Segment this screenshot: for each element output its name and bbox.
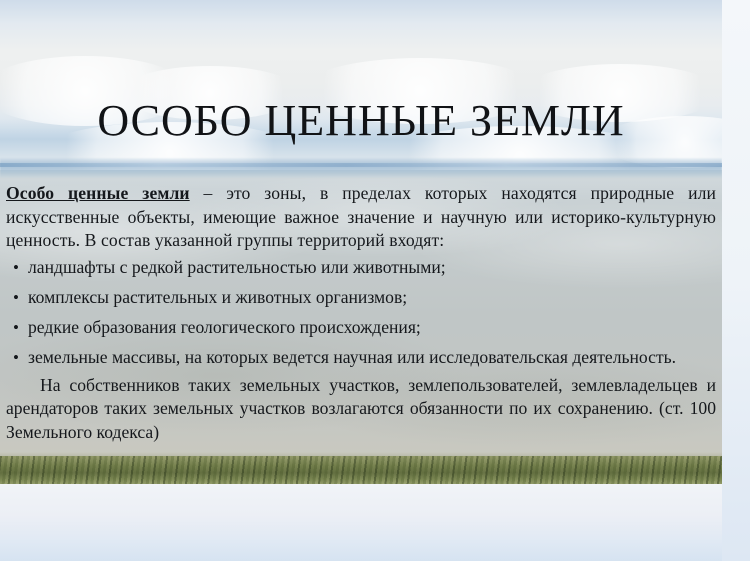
list-item-label: комплексы растительных и животных органи…	[28, 287, 407, 307]
list-item-label: редкие образования геологического происх…	[28, 317, 421, 337]
horizon-streak-highlight	[0, 163, 722, 167]
closing-paragraph: На собственников таких земельных участко…	[6, 374, 716, 445]
horizon-streak	[0, 158, 722, 178]
list-item: •комплексы растительных и животных орган…	[6, 286, 716, 310]
list-item: •земельные массивы, на которых ведется н…	[6, 346, 716, 370]
bullet-icon: •	[13, 346, 19, 370]
list-item: •ландшафты с редкой растительностью или …	[6, 256, 716, 280]
bullet-icon: •	[13, 286, 19, 310]
grass-strip	[0, 456, 722, 484]
bullet-icon: •	[13, 256, 19, 280]
definition-term: Особо ценные земли	[6, 183, 190, 203]
list-item-label: ландшафты с редкой растительностью или ж…	[28, 257, 446, 277]
page-bottom-margin	[0, 484, 722, 561]
criteria-list: •ландшафты с редкой растительностью или …	[6, 256, 716, 370]
page-root: ОСОБО ЦЕННЫЕ ЗЕМЛИ Особо ценные земли – …	[0, 0, 750, 561]
bullet-icon: •	[13, 316, 19, 340]
slide-body: Особо ценные земли – это зоны, в предела…	[6, 182, 716, 444]
slide-image: ОСОБО ЦЕННЫЕ ЗЕМЛИ Особо ценные земли – …	[0, 0, 722, 484]
list-item-label: земельные массивы, на которых ведется на…	[28, 347, 676, 367]
definition-paragraph: Особо ценные земли – это зоны, в предела…	[6, 182, 716, 253]
list-item: •редкие образования геологического проис…	[6, 316, 716, 340]
slide-title: ОСОБО ЦЕННЫЕ ЗЕМЛИ	[0, 96, 722, 146]
page-right-margin	[722, 0, 750, 561]
